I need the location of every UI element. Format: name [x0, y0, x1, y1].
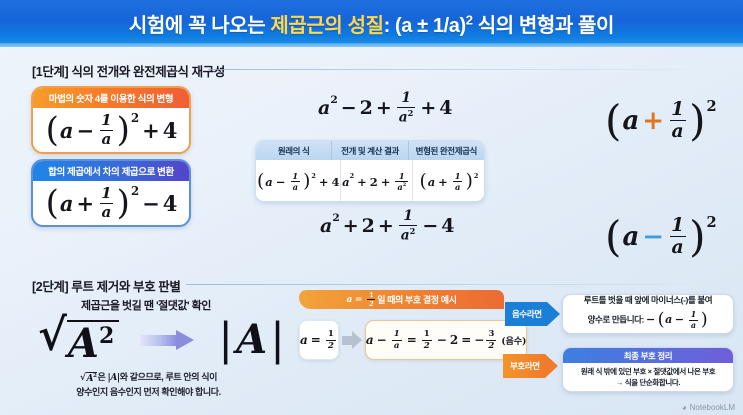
sqrt-to-abs-row: √A2 |A|	[38, 312, 288, 368]
card-magic-number: 마법의 숫자 4를 이용한 식의 변형 (a−1a)2+4	[31, 86, 191, 154]
branch-negative-arrow: 음수라면	[505, 302, 560, 326]
example-caption-text: 일 때의 부호 결정 예시	[377, 293, 456, 306]
branch-sign-label: 부호라면	[503, 354, 545, 378]
branch-negative-line2: 양수로 만듭니다: − (a−1a)	[584, 307, 712, 334]
implies-arrow-icon	[140, 330, 194, 350]
expression-expanded-top: a2−2+1a2+4	[318, 92, 453, 125]
card-magic-formula: (a−1a)2+4	[33, 108, 189, 152]
sqrt-a-squared: √A2	[38, 316, 119, 364]
card-convert-caption: 합의 제곱에서 차의 제곱으로 변환	[33, 161, 189, 181]
title-exponent: 2	[466, 12, 473, 27]
absolute-value-note: √A2은 |A|와 같으므로, 루트 안의 식이 양수인지 음수인지 먼저 확인…	[36, 371, 261, 399]
page-title: 시험에 꼭 나오는 제곱근의 성질: (a ± 1/a)2 식의 변형과 풀이	[129, 9, 614, 38]
abs-note-line2: 양수인지 음수인지 먼저 확인해야 합니다.	[36, 386, 261, 399]
branch-negative-label: 음수라면	[505, 302, 547, 326]
branch-sign-line2: → 식을 단순화합니다.	[616, 377, 680, 388]
title-suffix: : (a ± 1/a)	[384, 15, 466, 37]
branch-negative-box: 루트를 벗을 때 앞에 마이너스(-)를 붙여 양수로 만듭니다: − (a−1…	[562, 294, 734, 334]
example-body: a=12 a−1a=12−2=−32(음수)	[299, 316, 515, 364]
table-row: (a−1a)2+4 a2+2+1a2 (a+1a)2	[256, 160, 484, 202]
table-cell-expanded: a2+2+1a2	[340, 160, 412, 202]
branch-negative-line2-pre: 양수로 만듭니다:	[588, 315, 646, 325]
branch-negative-line1: 루트를 벗을 때 앞에 마이너스(-)를 붙여	[584, 294, 712, 307]
step2-divider	[186, 284, 713, 285]
table-cell-original: (a−1a)2+4	[256, 160, 340, 202]
branch-negative-arrowhead-icon	[547, 302, 560, 326]
branch-sign-arrowhead-icon	[545, 354, 558, 378]
step1-divider	[208, 69, 713, 70]
table-header-transformed: 변형된 완전제곱식	[408, 141, 484, 160]
table-header-original: 원래의 식	[256, 141, 331, 160]
example-arrow-icon	[342, 331, 362, 349]
notebooklm-icon: ◕	[682, 403, 687, 412]
branch-sign-box-title: 최종 부호 정리	[563, 348, 733, 363]
step1-heading: [1단계] 식의 전개와 완전제곱식 재구성	[32, 61, 225, 80]
card-magic-caption: 마법의 숫자 4를 이용한 식의 변형	[33, 88, 189, 108]
result-formula-diff-square: (a−1a)2	[604, 212, 717, 261]
result-formula-sum-square: (a+1a)2	[604, 96, 717, 145]
example-caption: a=12일 때의 부호 결정 예시	[299, 290, 504, 309]
table-header-expanded: 전개 및 계산 결과	[331, 141, 407, 160]
table-cell-transformed: (a+1a)2	[412, 160, 484, 202]
header-bar: 시험에 꼭 나오는 제곱근의 성질: (a ± 1/a)2 식의 변형과 풀이	[0, 0, 743, 47]
watermark-label: NotebookLM	[690, 403, 735, 412]
abs-note-line1: √A2은 |A|와 같으므로, 루트 안의 식이	[36, 371, 261, 386]
example-input-value: a=12	[299, 320, 339, 360]
example-panel: a=12일 때의 부호 결정 예시 a=12 a−1a=12−2=−32(음수)	[299, 290, 515, 376]
abs-a: |A|	[215, 318, 288, 362]
table-header-row: 원래의 식 전개 및 계산 결과 변형된 완전제곱식	[256, 141, 484, 160]
title-tail: 식의 변형과 풀이	[473, 15, 614, 37]
absolute-value-title: 제곱근을 벗길 땐 '절댓값' 확인	[81, 297, 211, 313]
expression-expanded-bottom: a2+2+1a2−4	[320, 210, 455, 243]
infographic-canvas: 시험에 꼭 나오는 제곱근의 성질: (a ± 1/a)2 식의 변형과 풀이 …	[0, 0, 743, 415]
title-prefix: 시험에 꼭 나오는	[129, 15, 270, 37]
example-result-tag: (음수)	[501, 334, 526, 347]
watermark: ◕ NotebookLM	[682, 403, 735, 412]
title-highlight: 제곱근의 성질	[270, 15, 383, 37]
step2-heading: [2단계] 루트 제거와 부호 판별	[32, 276, 180, 295]
branch-sign-arrow: 부호라면	[503, 354, 558, 378]
branch-sign-line1: 원래 식 밖에 있던 부호 × 절댓값에서 나온 부호	[581, 366, 715, 377]
comparison-table: 원래의 식 전개 및 계산 결과 변형된 완전제곱식 (a−1a)2+4 a2+…	[255, 140, 485, 202]
card-convert-formula: (a+1a)2−4	[33, 181, 189, 225]
card-convert-form: 합의 제곱에서 차의 제곱으로 변환 (a+1a)2−4	[31, 159, 191, 227]
branch-sign-box: 최종 부호 정리 원래 식 밖에 있던 부호 × 절댓값에서 나온 부호 → 식…	[562, 347, 734, 392]
